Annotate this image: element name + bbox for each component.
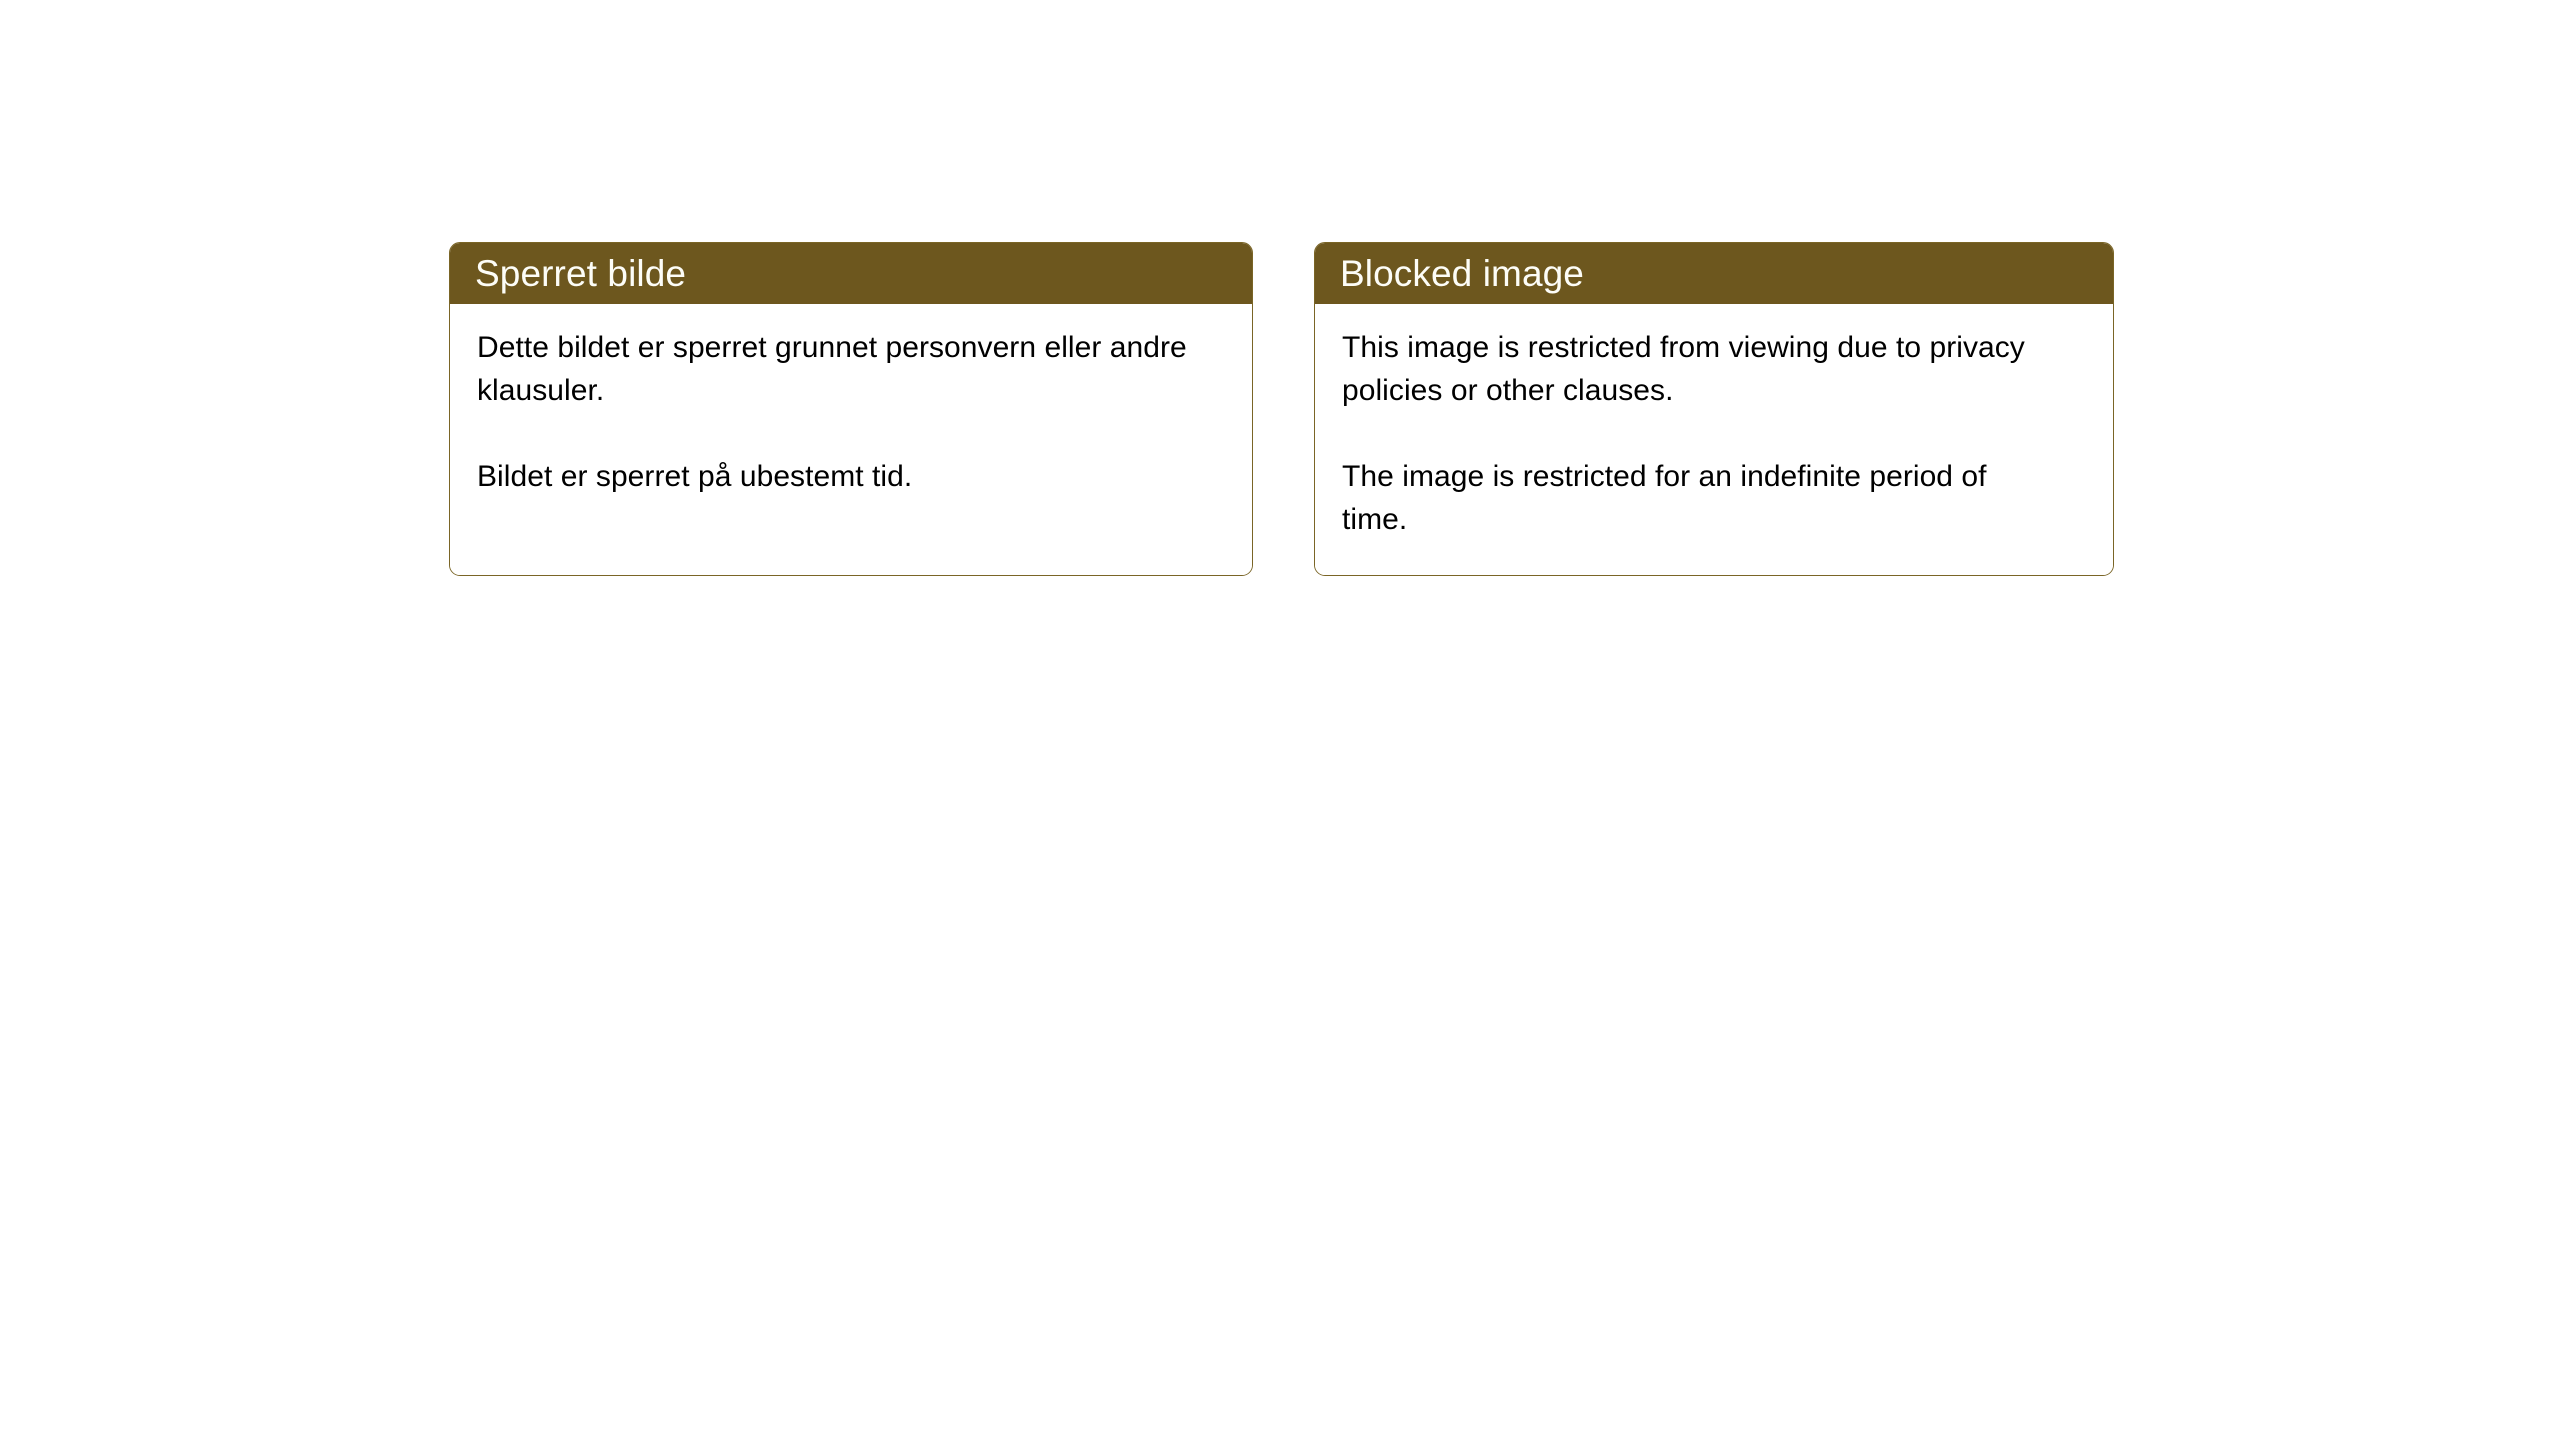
blocked-image-card-nb: Sperret bilde Dette bildet er sperret gr…	[449, 242, 1253, 576]
card-header-nb: Sperret bilde	[450, 243, 1252, 304]
card-title-en: Blocked image	[1340, 255, 1584, 292]
card-body-en: This image is restricted from viewing du…	[1315, 304, 2113, 575]
card-paragraph-nb-1: Dette bildet er sperret grunnet personve…	[477, 326, 1197, 412]
card-body-nb: Dette bildet er sperret grunnet personve…	[450, 304, 1252, 575]
blocked-image-card-en: Blocked image This image is restricted f…	[1314, 242, 2114, 576]
blocked-image-notice-stage: Sperret bilde Dette bildet er sperret gr…	[449, 242, 2114, 576]
card-title-nb: Sperret bilde	[475, 255, 686, 292]
card-paragraph-nb-2: Bildet er sperret på ubestemt tid.	[477, 455, 1197, 498]
card-header-en: Blocked image	[1315, 243, 2113, 304]
card-paragraph-en-2: The image is restricted for an indefinit…	[1342, 455, 2054, 541]
card-paragraph-en-1: This image is restricted from viewing du…	[1342, 326, 2054, 412]
